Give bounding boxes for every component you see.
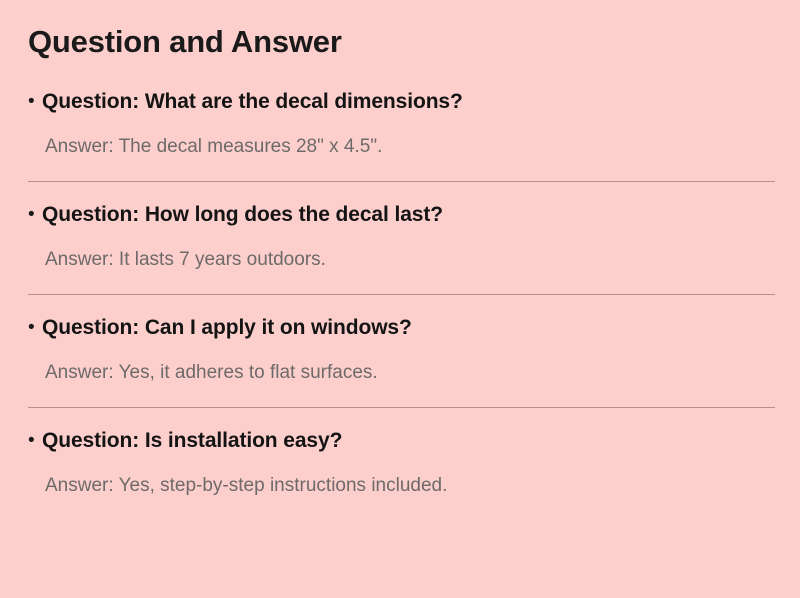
question-row: • Question: Can I apply it on windows? — [28, 315, 775, 341]
qa-block: • Question: How long does the decal last… — [28, 182, 775, 272]
list-item: • Question: What are the decal dimension… — [28, 69, 775, 182]
question-text: Question: Can I apply it on windows? — [42, 315, 412, 341]
question-row: • Question: How long does the decal last… — [28, 202, 775, 228]
bullet-icon: • — [28, 202, 42, 228]
qa-page: Question and Answer • Question: What are… — [0, 0, 800, 598]
qa-block: • Question: Is installation easy? Answer… — [28, 408, 775, 498]
bullet-icon: • — [28, 428, 42, 454]
list-item: • Question: Can I apply it on windows? A… — [28, 295, 775, 408]
list-item: • Question: How long does the decal last… — [28, 182, 775, 295]
answer-text: Answer: It lasts 7 years outdoors. — [45, 248, 775, 272]
qa-block: • Question: What are the decal dimension… — [28, 69, 775, 159]
question-row: • Question: What are the decal dimension… — [28, 89, 775, 115]
bullet-icon: • — [28, 315, 42, 341]
question-text: Question: What are the decal dimensions? — [42, 89, 463, 115]
bullet-icon: • — [28, 89, 42, 115]
list-item: • Question: Is installation easy? Answer… — [28, 408, 775, 498]
qa-list: • Question: What are the decal dimension… — [28, 69, 775, 498]
question-row: • Question: Is installation easy? — [28, 428, 775, 454]
answer-text: Answer: Yes, step-by-step instructions i… — [45, 474, 775, 498]
qa-block: • Question: Can I apply it on windows? A… — [28, 295, 775, 385]
question-text: Question: Is installation easy? — [42, 428, 342, 454]
answer-text: Answer: Yes, it adheres to flat surfaces… — [45, 361, 775, 385]
question-text: Question: How long does the decal last? — [42, 202, 443, 228]
answer-text: Answer: The decal measures 28" x 4.5". — [45, 135, 775, 159]
page-title: Question and Answer — [28, 24, 775, 60]
